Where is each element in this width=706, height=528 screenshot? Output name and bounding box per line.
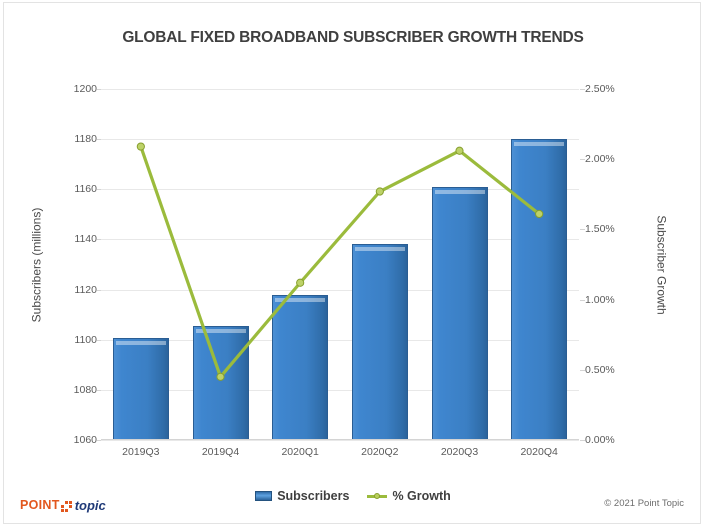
legend-label-subscribers: Subscribers	[277, 489, 349, 503]
left-axis-tick-label: 1180	[74, 133, 97, 145]
left-axis-tick-label: 1140	[74, 233, 97, 245]
chart-legend: Subscribers % Growth	[4, 489, 702, 503]
right-axis-title-text: Subscriber Growth	[655, 215, 669, 314]
right-axis-tick-label: 0.00%	[585, 434, 615, 446]
left-axis-tick-label: 1100	[74, 334, 97, 346]
legend-item-growth[interactable]: % Growth	[367, 489, 450, 503]
x-axis-tick-label: 2019Q3	[101, 446, 181, 458]
point-topic-logo: POINT topic	[20, 495, 106, 515]
right-axis-title: Subscriber Growth	[652, 89, 672, 440]
legend-item-subscribers[interactable]: Subscribers	[255, 489, 349, 503]
right-axis-tickmark	[580, 159, 585, 160]
right-axis-tick-label: 2.50%	[585, 83, 615, 95]
x-axis-tick-label: 2020Q3	[420, 446, 500, 458]
growth-data-marker[interactable]	[536, 210, 543, 217]
right-axis-tickmark	[580, 300, 585, 301]
legend-label-growth: % Growth	[392, 489, 450, 503]
right-axis-tick-label: 0.50%	[585, 364, 615, 376]
x-axis-tick-label: 2020Q1	[260, 446, 340, 458]
right-axis-tickmark	[580, 89, 585, 90]
line-swatch-icon	[367, 491, 387, 501]
plot-area	[101, 89, 579, 440]
right-axis-tickmark	[580, 370, 585, 371]
chart-title: GLOBAL FIXED BROADBAND SUBSCRIBER GROWTH…	[4, 29, 702, 47]
left-axis-tick-label: 1160	[74, 183, 97, 195]
growth-data-marker[interactable]	[137, 143, 144, 150]
right-axis-tickmark	[580, 440, 585, 441]
right-axis-tick-label: 2.00%	[585, 153, 615, 165]
growth-data-marker[interactable]	[297, 279, 304, 286]
left-axis-tick-label: 1060	[74, 434, 97, 446]
line-series-growth	[101, 89, 579, 440]
x-axis-baseline	[101, 439, 579, 440]
right-axis-tick-labels: 0.00%0.50%1.00%1.50%2.00%2.50%	[585, 89, 635, 440]
logo-word-point: POINT	[20, 498, 60, 512]
left-axis-tick-label: 1120	[74, 284, 97, 296]
x-axis-tick-labels: 2019Q32019Q42020Q12020Q22020Q32020Q4	[101, 446, 579, 462]
left-axis-tick-labels: 10601080110011201140116011801200	[59, 89, 97, 440]
gridline	[101, 440, 579, 441]
growth-line-path	[141, 147, 539, 377]
right-axis-tickmark	[580, 229, 585, 230]
logo-dot-grid-icon	[61, 501, 72, 512]
logo-word-topic: topic	[75, 498, 106, 513]
x-axis-tick-label: 2020Q2	[340, 446, 420, 458]
x-axis-tick-label: 2019Q4	[181, 446, 261, 458]
x-axis-tick-label: 2020Q4	[499, 446, 579, 458]
right-axis-tick-label: 1.00%	[585, 294, 615, 306]
growth-data-marker[interactable]	[376, 188, 383, 195]
chart-card: GLOBAL FIXED BROADBAND SUBSCRIBER GROWTH…	[3, 2, 701, 524]
left-axis-title: Subscribers (millions)	[26, 89, 46, 440]
growth-data-marker[interactable]	[456, 147, 463, 154]
left-axis-title-text: Subscribers (millions)	[29, 207, 43, 322]
copyright-credit: © 2021 Point Topic	[604, 498, 684, 509]
left-axis-tick-label: 1200	[74, 83, 97, 95]
left-axis-tick-label: 1080	[74, 384, 97, 396]
bar-swatch-icon	[255, 491, 272, 501]
right-axis-tick-label: 1.50%	[585, 223, 615, 235]
growth-data-marker[interactable]	[217, 373, 224, 380]
